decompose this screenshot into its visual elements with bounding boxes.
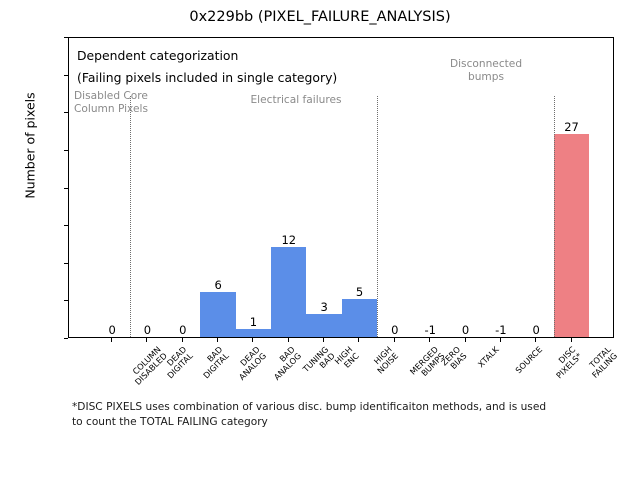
bar-value-label: 0 [391,323,398,337]
annotation-disabled-core-column-pixels: Disabled Core Column Pixels [74,90,148,115]
x-tick-mark [358,338,359,342]
bar [306,314,341,337]
bar-value-label: 5 [356,285,363,299]
bar [554,134,589,337]
x-tick-mark [182,338,183,342]
x-tick-label: SOURCE [514,345,545,376]
x-tick-mark [394,338,395,342]
bar [236,329,271,337]
sep-after-column-disabled [130,96,131,338]
x-tick-label: DISCPIXELS* [549,345,585,381]
bar-value-label: -1 [424,323,435,337]
bar [271,247,306,337]
x-tick-mark [217,338,218,342]
y-tick-mark [64,338,68,339]
x-tick-mark [111,338,112,342]
bar-value-label: 0 [533,323,540,337]
bar-value-label: 3 [320,300,327,314]
x-tick-label: DEADDIGITAL [160,345,196,381]
annotation-disconnected-bumps: Disconnected bumps [450,58,522,83]
x-tick-label: XTALK [476,345,501,370]
x-tick-mark [146,338,147,342]
sep-before-total-failing [554,96,555,338]
annotation-dependent-categorization: Dependent categorization [77,48,238,63]
annotation-electrical-failures: Electrical failures [250,94,341,107]
x-tick-label: ZEROBIAS [440,345,470,375]
bar-value-label: -1 [495,323,506,337]
x-tick-mark [323,338,324,342]
bar-value-label: 0 [144,323,151,337]
y-axis-label: Number of pixels [23,36,38,256]
pixel-failure-analysis-figure: 0x229bb (PIXEL_FAILURE_ANALYSIS) Number … [0,0,640,480]
x-tick-mark [571,338,572,342]
x-tick-label: DEADANALOG [231,345,269,383]
x-tick-mark [288,338,289,342]
bar [342,299,377,337]
bar-value-label: 0 [462,323,469,337]
sep-after-high-noise [377,96,378,338]
x-tick-mark [465,338,466,342]
bar-value-label: 27 [564,120,579,134]
x-tick-label: TOTALFAILING [584,345,620,381]
x-tick-label: TUNINGBAD [301,345,337,381]
bar-value-label: 0 [108,323,115,337]
x-tick-mark [252,338,253,342]
bar-value-label: 1 [250,315,257,329]
x-tick-label: MERGEDBUMPS [408,345,447,384]
x-tick-mark [535,338,536,342]
footnote-text: *DISC PIXELS uses combination of various… [72,400,602,429]
annotation-failing-pixels-note: (Failing pixels included in single categ… [77,70,337,85]
bar [200,292,235,337]
bar-value-label: 0 [179,323,186,337]
bar-value-label: 6 [214,278,221,292]
x-tick-label: BADDIGITAL [195,345,231,381]
x-tick-label: BADANALOG [267,345,305,383]
plot-area: 0006112350-10-1027 Dependent categorizat… [68,37,614,338]
chart-title: 0x229bb (PIXEL_FAILURE_ANALYSIS) [0,9,640,25]
x-tick-mark [500,338,501,342]
x-tick-label: HIGHENC [333,345,361,373]
x-tick-label: HIGHNOISE [370,345,401,376]
x-tick-mark [429,338,430,342]
bar-value-label: 12 [281,233,296,247]
